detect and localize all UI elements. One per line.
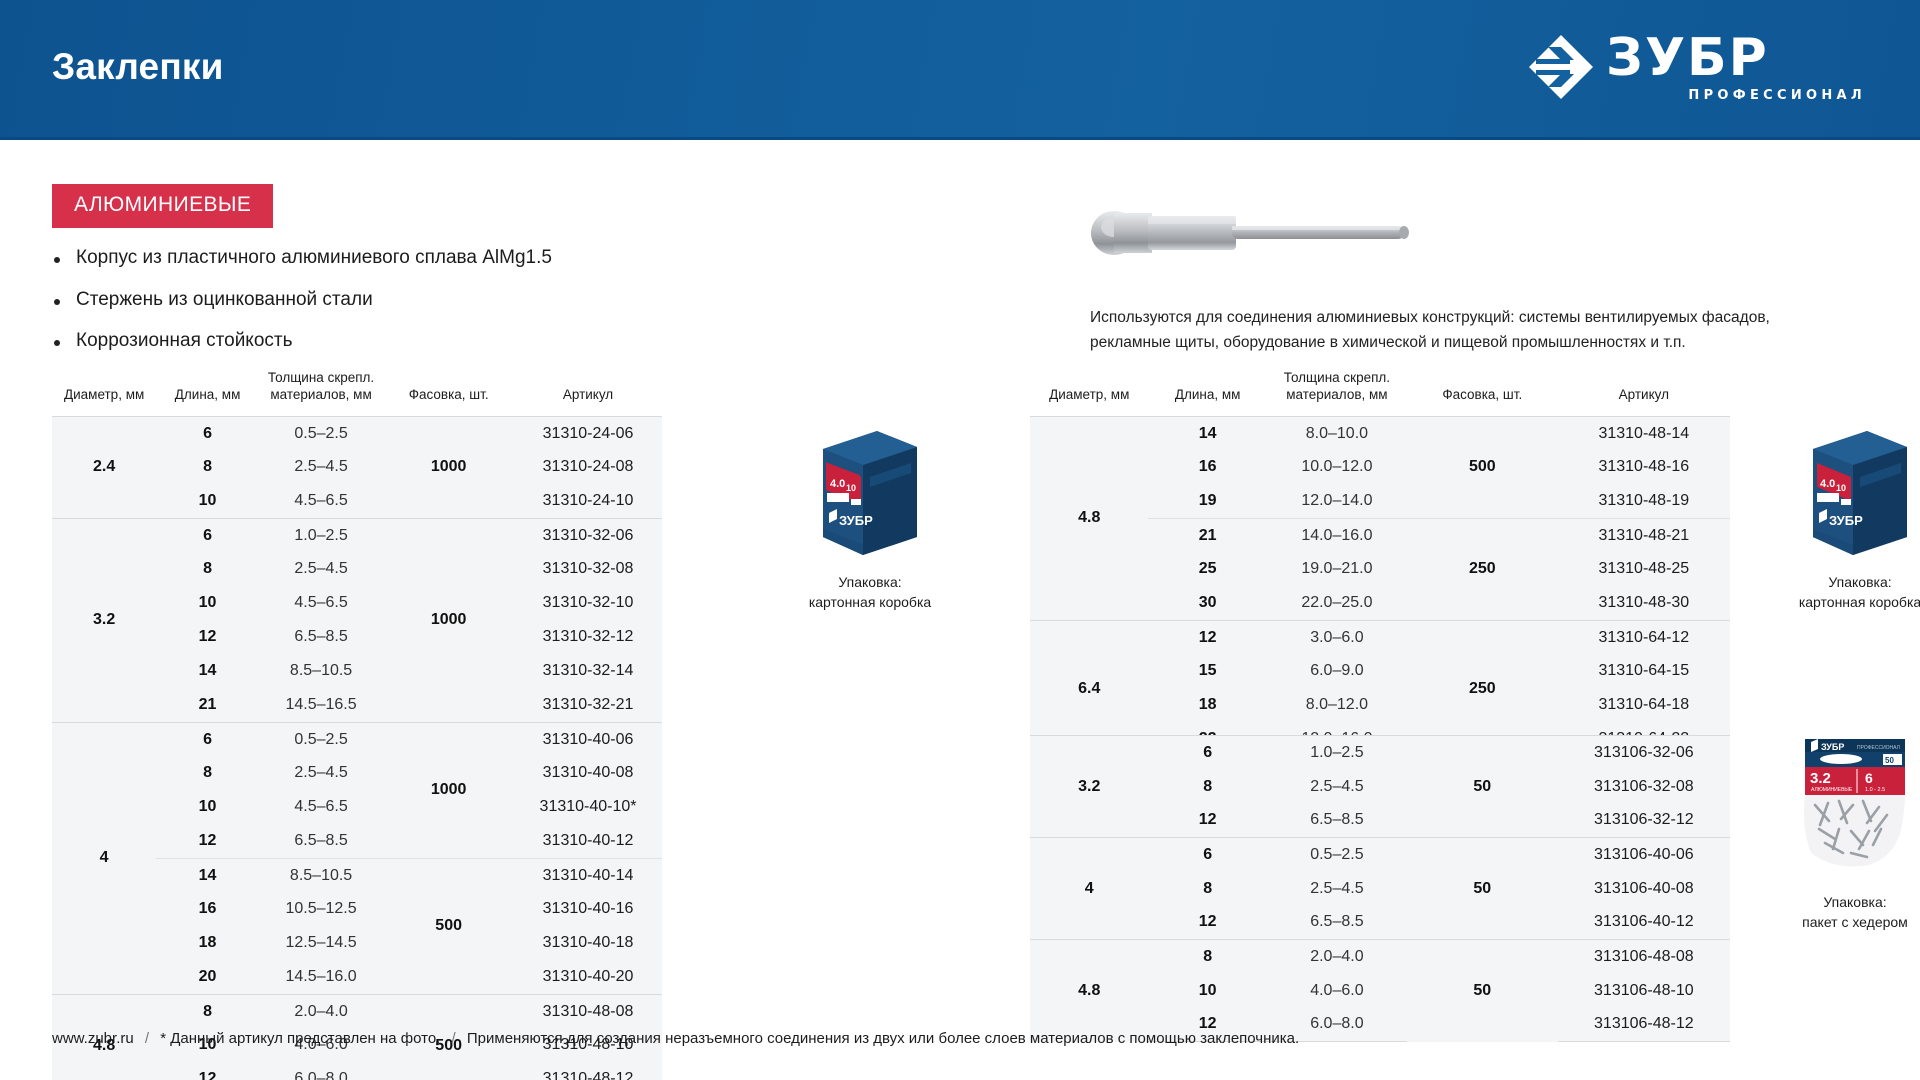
- svg-text:ЗУБР: ЗУБР: [839, 513, 873, 528]
- svg-text:ЗУБР: ЗУБР: [1829, 513, 1863, 528]
- svg-text:ЗУБР: ЗУБР: [1821, 742, 1844, 752]
- col-header-packing: Фасовка, шт.: [383, 370, 514, 416]
- header-bag-icon: ЗУБР ПРОФЕССИОНАЛ 50 3.2 АЛЮМИНИЕВЫЕ 6 1…: [1795, 735, 1915, 877]
- cell-length: 12: [156, 1062, 259, 1080]
- left-table-body: 2.460.5–2.5100031310-24-0682.5–4.531310-…: [52, 416, 662, 1080]
- cell-thickness: 3.0–6.0: [1267, 620, 1407, 654]
- col-header-thickness: Толщина скрепл. материалов, мм: [259, 370, 383, 416]
- cell-thickness: 22.0–25.0: [1267, 586, 1407, 620]
- cell-length: 19: [1148, 484, 1266, 518]
- cell-length: 6: [1148, 736, 1266, 770]
- table-row: 3.261.0–2.5100031310-32-06: [52, 518, 662, 552]
- cell-thickness: 6.0–8.0: [259, 1062, 383, 1080]
- cell-length: 12: [156, 620, 259, 654]
- cell-length: 12: [156, 824, 259, 858]
- cell-article: 313106-40-12: [1558, 906, 1730, 940]
- table-row: 4.882.0–4.050313106-48-08: [1030, 940, 1730, 974]
- cell-length: 8: [1148, 940, 1266, 974]
- cell-diameter: 3.2: [1030, 736, 1148, 838]
- cell-thickness: 10.5–12.5: [259, 892, 383, 926]
- cell-article: 313106-32-12: [1558, 804, 1730, 838]
- cell-article: 31310-40-14: [514, 858, 662, 892]
- cell-article: 31310-32-08: [514, 552, 662, 586]
- cell-length: 8: [1148, 770, 1266, 804]
- table-row: 6.4123.0–6.025031310-64-12: [1030, 620, 1730, 654]
- cell-article: 31310-24-08: [514, 450, 662, 484]
- svg-text:АЛЮМИНИЕВЫЕ: АЛЮМИНИЕВЫЕ: [1811, 787, 1853, 793]
- col-header-length: Длина, мм: [1148, 370, 1266, 416]
- cell-thickness: 0.5–2.5: [1267, 838, 1407, 872]
- packaging-caption-line2: пакет с хедером: [1740, 912, 1920, 932]
- cell-thickness: 0.5–2.5: [259, 416, 383, 450]
- bullet-icon: [54, 257, 60, 263]
- svg-text:ПРОФЕССИОНАЛ: ПРОФЕССИОНАЛ: [1857, 745, 1900, 751]
- cell-diameter: 4: [1030, 838, 1148, 940]
- cell-thickness: 4.5–6.5: [259, 484, 383, 518]
- svg-text:1.0 - 2.5: 1.0 - 2.5: [1865, 787, 1885, 793]
- right-specification-table-2: 3.261.0–2.550313106-32-0682.5–4.5313106-…: [1030, 735, 1730, 1042]
- cell-diameter: 2.4: [52, 416, 156, 518]
- cell-article: 31310-40-12: [514, 824, 662, 858]
- page-header: Заклепки ЗУБР ПРОФЕССИОНАЛ: [0, 0, 1920, 140]
- packaging-caption: Упаковка: пакет с хедером: [1740, 892, 1920, 933]
- svg-text:3.2: 3.2: [1810, 770, 1831, 787]
- cell-article: 313106-48-08: [1558, 940, 1730, 974]
- cell-length: 25: [1148, 552, 1266, 586]
- cell-article: 31310-48-25: [1558, 552, 1730, 586]
- col-header-article: Артикул: [1558, 370, 1730, 416]
- cell-thickness: 2.5–4.5: [259, 756, 383, 790]
- table-row: 460.5–2.550313106-40-06: [1030, 838, 1730, 872]
- cell-length: 20: [156, 960, 259, 994]
- cell-thickness: 14.0–16.0: [1267, 518, 1407, 552]
- cell-packing: 50: [1407, 940, 1558, 1042]
- cell-article: 31310-24-10: [514, 484, 662, 518]
- cell-diameter: 3.2: [52, 518, 156, 722]
- cell-thickness: 12.5–14.5: [259, 926, 383, 960]
- feature-list: Корпус из пластичного алюминиевого сплав…: [54, 246, 694, 371]
- category-badge: АЛЮМИНИЕВЫЕ: [52, 184, 273, 228]
- packaging-caption-line2: картонная коробка: [1760, 592, 1920, 612]
- cell-length: 12: [1148, 804, 1266, 838]
- cell-length: 6: [156, 722, 259, 756]
- footer-site[interactable]: www.zubr.ru: [52, 1030, 134, 1047]
- cell-article: 31310-48-16: [1558, 450, 1730, 484]
- packaging-block-right-2: ЗУБР ПРОФЕССИОНАЛ 50 3.2 АЛЮМИНИЕВЫЕ 6 1…: [1740, 735, 1920, 933]
- table-row: 4.8148.0–10.050031310-48-14: [1030, 416, 1730, 450]
- cardboard-box-icon: 4.0 10 ЗУБР: [1805, 425, 1915, 557]
- col-header-diameter: Диаметр, мм: [1030, 370, 1148, 416]
- packaging-caption-line1: Упаковка:: [770, 572, 970, 592]
- cell-thickness: 8.0–12.0: [1267, 688, 1407, 722]
- cell-thickness: 2.5–4.5: [259, 450, 383, 484]
- cell-thickness: 2.5–4.5: [259, 552, 383, 586]
- cell-thickness: 4.0–6.0: [1267, 974, 1407, 1008]
- cell-length: 8: [156, 994, 259, 1028]
- right-specification-table-1: Диаметр, мм Длина, мм Толщина скрепл. ма…: [1030, 370, 1730, 757]
- cell-length: 10: [156, 586, 259, 620]
- cell-length: 16: [1148, 450, 1266, 484]
- table-row: 2.460.5–2.5100031310-24-06: [52, 416, 662, 450]
- col-header-packing: Фасовка, шт.: [1407, 370, 1558, 416]
- col-header-length: Длина, мм: [156, 370, 259, 416]
- cell-article: 31310-40-08: [514, 756, 662, 790]
- product-datasheet-page: Заклепки ЗУБР ПРОФЕССИОНАЛ АЛЮМИНИЕВЫЕ К…: [0, 0, 1920, 1080]
- cell-thickness: 4.5–6.5: [259, 586, 383, 620]
- svg-text:4.0: 4.0: [830, 478, 845, 490]
- cell-packing: 1000: [383, 722, 514, 858]
- cell-length: 16: [156, 892, 259, 926]
- cell-thickness: 8.5–10.5: [259, 858, 383, 892]
- cell-article: 31310-32-21: [514, 688, 662, 722]
- cell-length: 10: [156, 790, 259, 824]
- brand-wordmark: ЗУБР: [1606, 28, 1769, 88]
- cell-thickness: 1.0–2.5: [1267, 736, 1407, 770]
- cell-thickness: 6.5–8.5: [259, 620, 383, 654]
- cell-thickness: 12.0–14.0: [1267, 484, 1407, 518]
- cell-article: 31310-24-06: [514, 416, 662, 450]
- table-row: 4.882.0–4.050031310-48-08: [52, 994, 662, 1028]
- cell-article: 313106-48-12: [1558, 1008, 1730, 1042]
- cell-thickness: 2.0–4.0: [259, 994, 383, 1028]
- cell-article: 31310-64-12: [1558, 620, 1730, 654]
- cell-thickness: 8.5–10.5: [259, 654, 383, 688]
- cell-length: 15: [1148, 654, 1266, 688]
- right-table1-body: 4.8148.0–10.050031310-48-141610.0–12.031…: [1030, 416, 1730, 756]
- cell-article: 31310-48-08: [514, 994, 662, 1028]
- feature-text: Корпус из пластичного алюминиевого сплав…: [76, 246, 552, 271]
- cell-diameter: 4.8: [1030, 940, 1148, 1042]
- cell-thickness: 6.5–8.5: [259, 824, 383, 858]
- cell-article: 313106-40-06: [1558, 838, 1730, 872]
- cell-length: 18: [1148, 688, 1266, 722]
- cell-length: 14: [1148, 416, 1266, 450]
- cell-article: 31310-48-19: [1558, 484, 1730, 518]
- footer-note-photo: * Данный артикул представлен на фото.: [160, 1030, 440, 1047]
- col-header-thickness: Толщина скрепл. материалов, мм: [1267, 370, 1407, 416]
- feature-item: Коррозионная стойкость: [54, 329, 694, 354]
- cell-length: 30: [1148, 586, 1266, 620]
- left-specification-table: Диаметр, мм Длина, мм Толщина скрепл. ма…: [52, 370, 662, 1080]
- cell-thickness: 2.5–4.5: [1267, 770, 1407, 804]
- cell-length: 12: [1148, 620, 1266, 654]
- cell-thickness: 2.0–4.0: [1267, 940, 1407, 974]
- col-header-diameter: Диаметр, мм: [52, 370, 156, 416]
- table-row: 3.261.0–2.550313106-32-06: [1030, 736, 1730, 770]
- cell-article: 31310-40-10*: [514, 790, 662, 824]
- packaging-block-left: 4.0 10 ЗУБР Упаковка: картонная коробка: [770, 425, 970, 613]
- cell-length: 6: [156, 518, 259, 552]
- packaging-caption-line2: картонная коробка: [770, 592, 970, 612]
- cell-length: 14: [156, 858, 259, 892]
- usage-description: Используются для соединения алюминиевых …: [1090, 305, 1850, 355]
- right-table2-body: 3.261.0–2.550313106-32-0682.5–4.5313106-…: [1030, 736, 1730, 1042]
- cell-thickness: 2.5–4.5: [1267, 872, 1407, 906]
- table-header-row: Диаметр, мм Длина, мм Толщина скрепл. ма…: [52, 370, 662, 416]
- cell-length: 10: [1148, 974, 1266, 1008]
- bullet-icon: [54, 340, 60, 346]
- cell-article: 31310-64-15: [1558, 654, 1730, 688]
- cell-length: 21: [1148, 518, 1266, 552]
- cell-article: 31310-64-18: [1558, 688, 1730, 722]
- packaging-caption: Упаковка: картонная коробка: [770, 572, 970, 613]
- cell-thickness: 6.5–8.5: [1267, 804, 1407, 838]
- cell-length: 6: [1148, 838, 1266, 872]
- cell-article: 31310-48-14: [1558, 416, 1730, 450]
- brand-logo: ЗУБР ПРОФЕССИОНАЛ: [1528, 28, 1868, 112]
- table-row: 460.5–2.5100031310-40-06: [52, 722, 662, 756]
- footer-separator: /: [445, 1030, 463, 1047]
- cell-thickness: 4.5–6.5: [259, 790, 383, 824]
- cell-thickness: 19.0–21.0: [1267, 552, 1407, 586]
- packaging-block-right-1: 4.0 10 ЗУБР Упаковка: картонная коробка: [1760, 425, 1920, 613]
- cell-article: 31310-48-30: [1558, 586, 1730, 620]
- svg-text:10: 10: [846, 483, 856, 493]
- packaging-caption-line1: Упаковка:: [1760, 572, 1920, 592]
- cell-length: 12: [1148, 906, 1266, 940]
- cell-diameter: 4: [52, 722, 156, 994]
- footer-separator: /: [138, 1030, 156, 1047]
- page-title: Заклепки: [52, 46, 224, 88]
- feature-item: Корпус из пластичного алюминиевого сплав…: [54, 246, 694, 271]
- feature-item: Стержень из оцинкованной стали: [54, 288, 694, 313]
- cell-thickness: 0.5–2.5: [259, 722, 383, 756]
- cell-article: 31310-40-16: [514, 892, 662, 926]
- cell-length: 14: [156, 654, 259, 688]
- brand-tagline: ПРОФЕССИОНАЛ: [1688, 88, 1866, 103]
- zubr-logo-icon: [1528, 34, 1594, 100]
- cell-thickness: 10.0–12.0: [1267, 450, 1407, 484]
- cardboard-box-icon: 4.0 10 ЗУБР: [815, 425, 925, 557]
- cell-thickness: 14.5–16.0: [259, 960, 383, 994]
- svg-text:4.0: 4.0: [1820, 478, 1835, 490]
- cell-packing: 50: [1407, 838, 1558, 940]
- cell-article: 31310-48-12: [514, 1062, 662, 1080]
- svg-text:50: 50: [1885, 756, 1894, 765]
- cell-article: 313106-32-06: [1558, 736, 1730, 770]
- cell-length: 8: [156, 552, 259, 586]
- cell-length: 18: [156, 926, 259, 960]
- cell-thickness: 8.0–10.0: [1267, 416, 1407, 450]
- cell-packing: 500: [1407, 416, 1558, 518]
- cell-diameter: 4.8: [1030, 416, 1148, 620]
- cell-article: 31310-40-06: [514, 722, 662, 756]
- svg-text:6: 6: [1865, 770, 1873, 786]
- cell-packing: 250: [1407, 518, 1558, 620]
- page-footer: www.zubr.ru / * Данный артикул представл…: [52, 1030, 1299, 1047]
- cell-thickness: 1.0–2.5: [259, 518, 383, 552]
- cell-article: 31310-40-20: [514, 960, 662, 994]
- cell-packing: 1000: [383, 518, 514, 722]
- cell-thickness: 6.0–9.0: [1267, 654, 1407, 688]
- cell-thickness: 14.5–16.5: [259, 688, 383, 722]
- cell-packing: 50: [1407, 736, 1558, 838]
- cell-article: 31310-32-10: [514, 586, 662, 620]
- cell-packing: 1000: [383, 416, 514, 518]
- cell-length: 21: [156, 688, 259, 722]
- cell-length: 10: [156, 484, 259, 518]
- cell-article: 31310-32-14: [514, 654, 662, 688]
- cell-thickness: 6.5–8.5: [1267, 906, 1407, 940]
- bullet-icon: [54, 299, 60, 305]
- cell-article: 313106-32-08: [1558, 770, 1730, 804]
- cell-article: 31310-40-18: [514, 926, 662, 960]
- packaging-caption-line1: Упаковка:: [1740, 892, 1920, 912]
- cell-packing: 500: [383, 858, 514, 994]
- packaging-caption: Упаковка: картонная коробка: [1760, 572, 1920, 613]
- feature-text: Коррозионная стойкость: [76, 329, 293, 354]
- cell-length: 8: [156, 450, 259, 484]
- cell-length: 8: [1148, 872, 1266, 906]
- cell-article: 313106-40-08: [1558, 872, 1730, 906]
- feature-text: Стержень из оцинкованной стали: [76, 288, 373, 313]
- cell-article: 31310-32-06: [514, 518, 662, 552]
- table-header-row: Диаметр, мм Длина, мм Толщина скрепл. ма…: [1030, 370, 1730, 416]
- cell-length: 8: [156, 756, 259, 790]
- footer-note-usage: Применяются для создания неразъемного со…: [467, 1030, 1299, 1047]
- cell-article: 31310-32-12: [514, 620, 662, 654]
- cell-article: 31310-48-21: [1558, 518, 1730, 552]
- cell-length: 6: [156, 416, 259, 450]
- rivet-product-illustration: [1090, 195, 1560, 270]
- col-header-article: Артикул: [514, 370, 662, 416]
- svg-text:10: 10: [1836, 483, 1846, 493]
- cell-article: 313106-48-10: [1558, 974, 1730, 1008]
